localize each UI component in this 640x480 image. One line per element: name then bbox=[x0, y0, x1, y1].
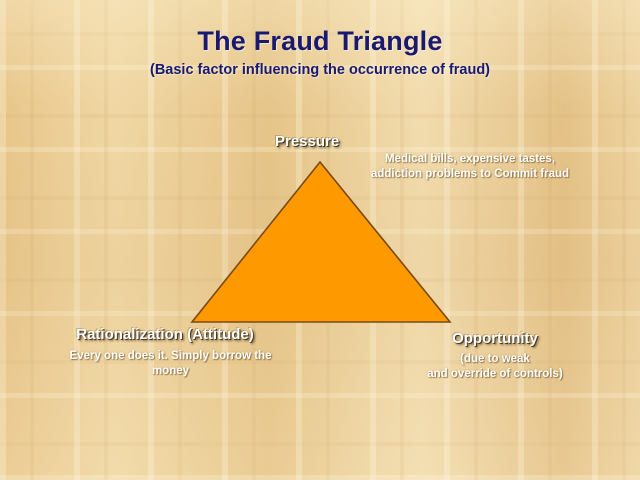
node-label-opportunity: Opportunity bbox=[370, 330, 620, 347]
node-label-pressure: Pressure bbox=[275, 133, 339, 150]
node-description-opportunity: (due to weak and override of controls) bbox=[380, 352, 610, 382]
pressure-body-line-2: addiction problems to Commit fraud bbox=[350, 167, 590, 182]
fraud-triangle-slide: The Fraud Triangle (Basic factor influen… bbox=[0, 0, 640, 480]
title-block: The Fraud Triangle (Basic factor influen… bbox=[0, 26, 640, 78]
page-title: The Fraud Triangle bbox=[0, 26, 640, 56]
opportunity-body-line-2: and override of controls) bbox=[380, 367, 610, 382]
page-subtitle: (Basic factor influencing the occurrence… bbox=[0, 62, 640, 78]
node-label-rationalization: Rationalization (Attitude) bbox=[0, 326, 330, 343]
rationalization-body-line-1: Every one does it. Simply borrow the bbox=[28, 349, 313, 364]
rationalization-body-line-2: money bbox=[28, 364, 313, 379]
pressure-body-line-1: Medical bills, expensive tastes, bbox=[350, 152, 590, 167]
opportunity-body-line-1: (due to weak bbox=[380, 352, 610, 367]
node-description-rationalization: Every one does it. Simply borrow the mon… bbox=[28, 349, 313, 379]
triangle-shape bbox=[192, 162, 450, 322]
node-description-pressure: Medical bills, expensive tastes, addicti… bbox=[350, 152, 590, 182]
